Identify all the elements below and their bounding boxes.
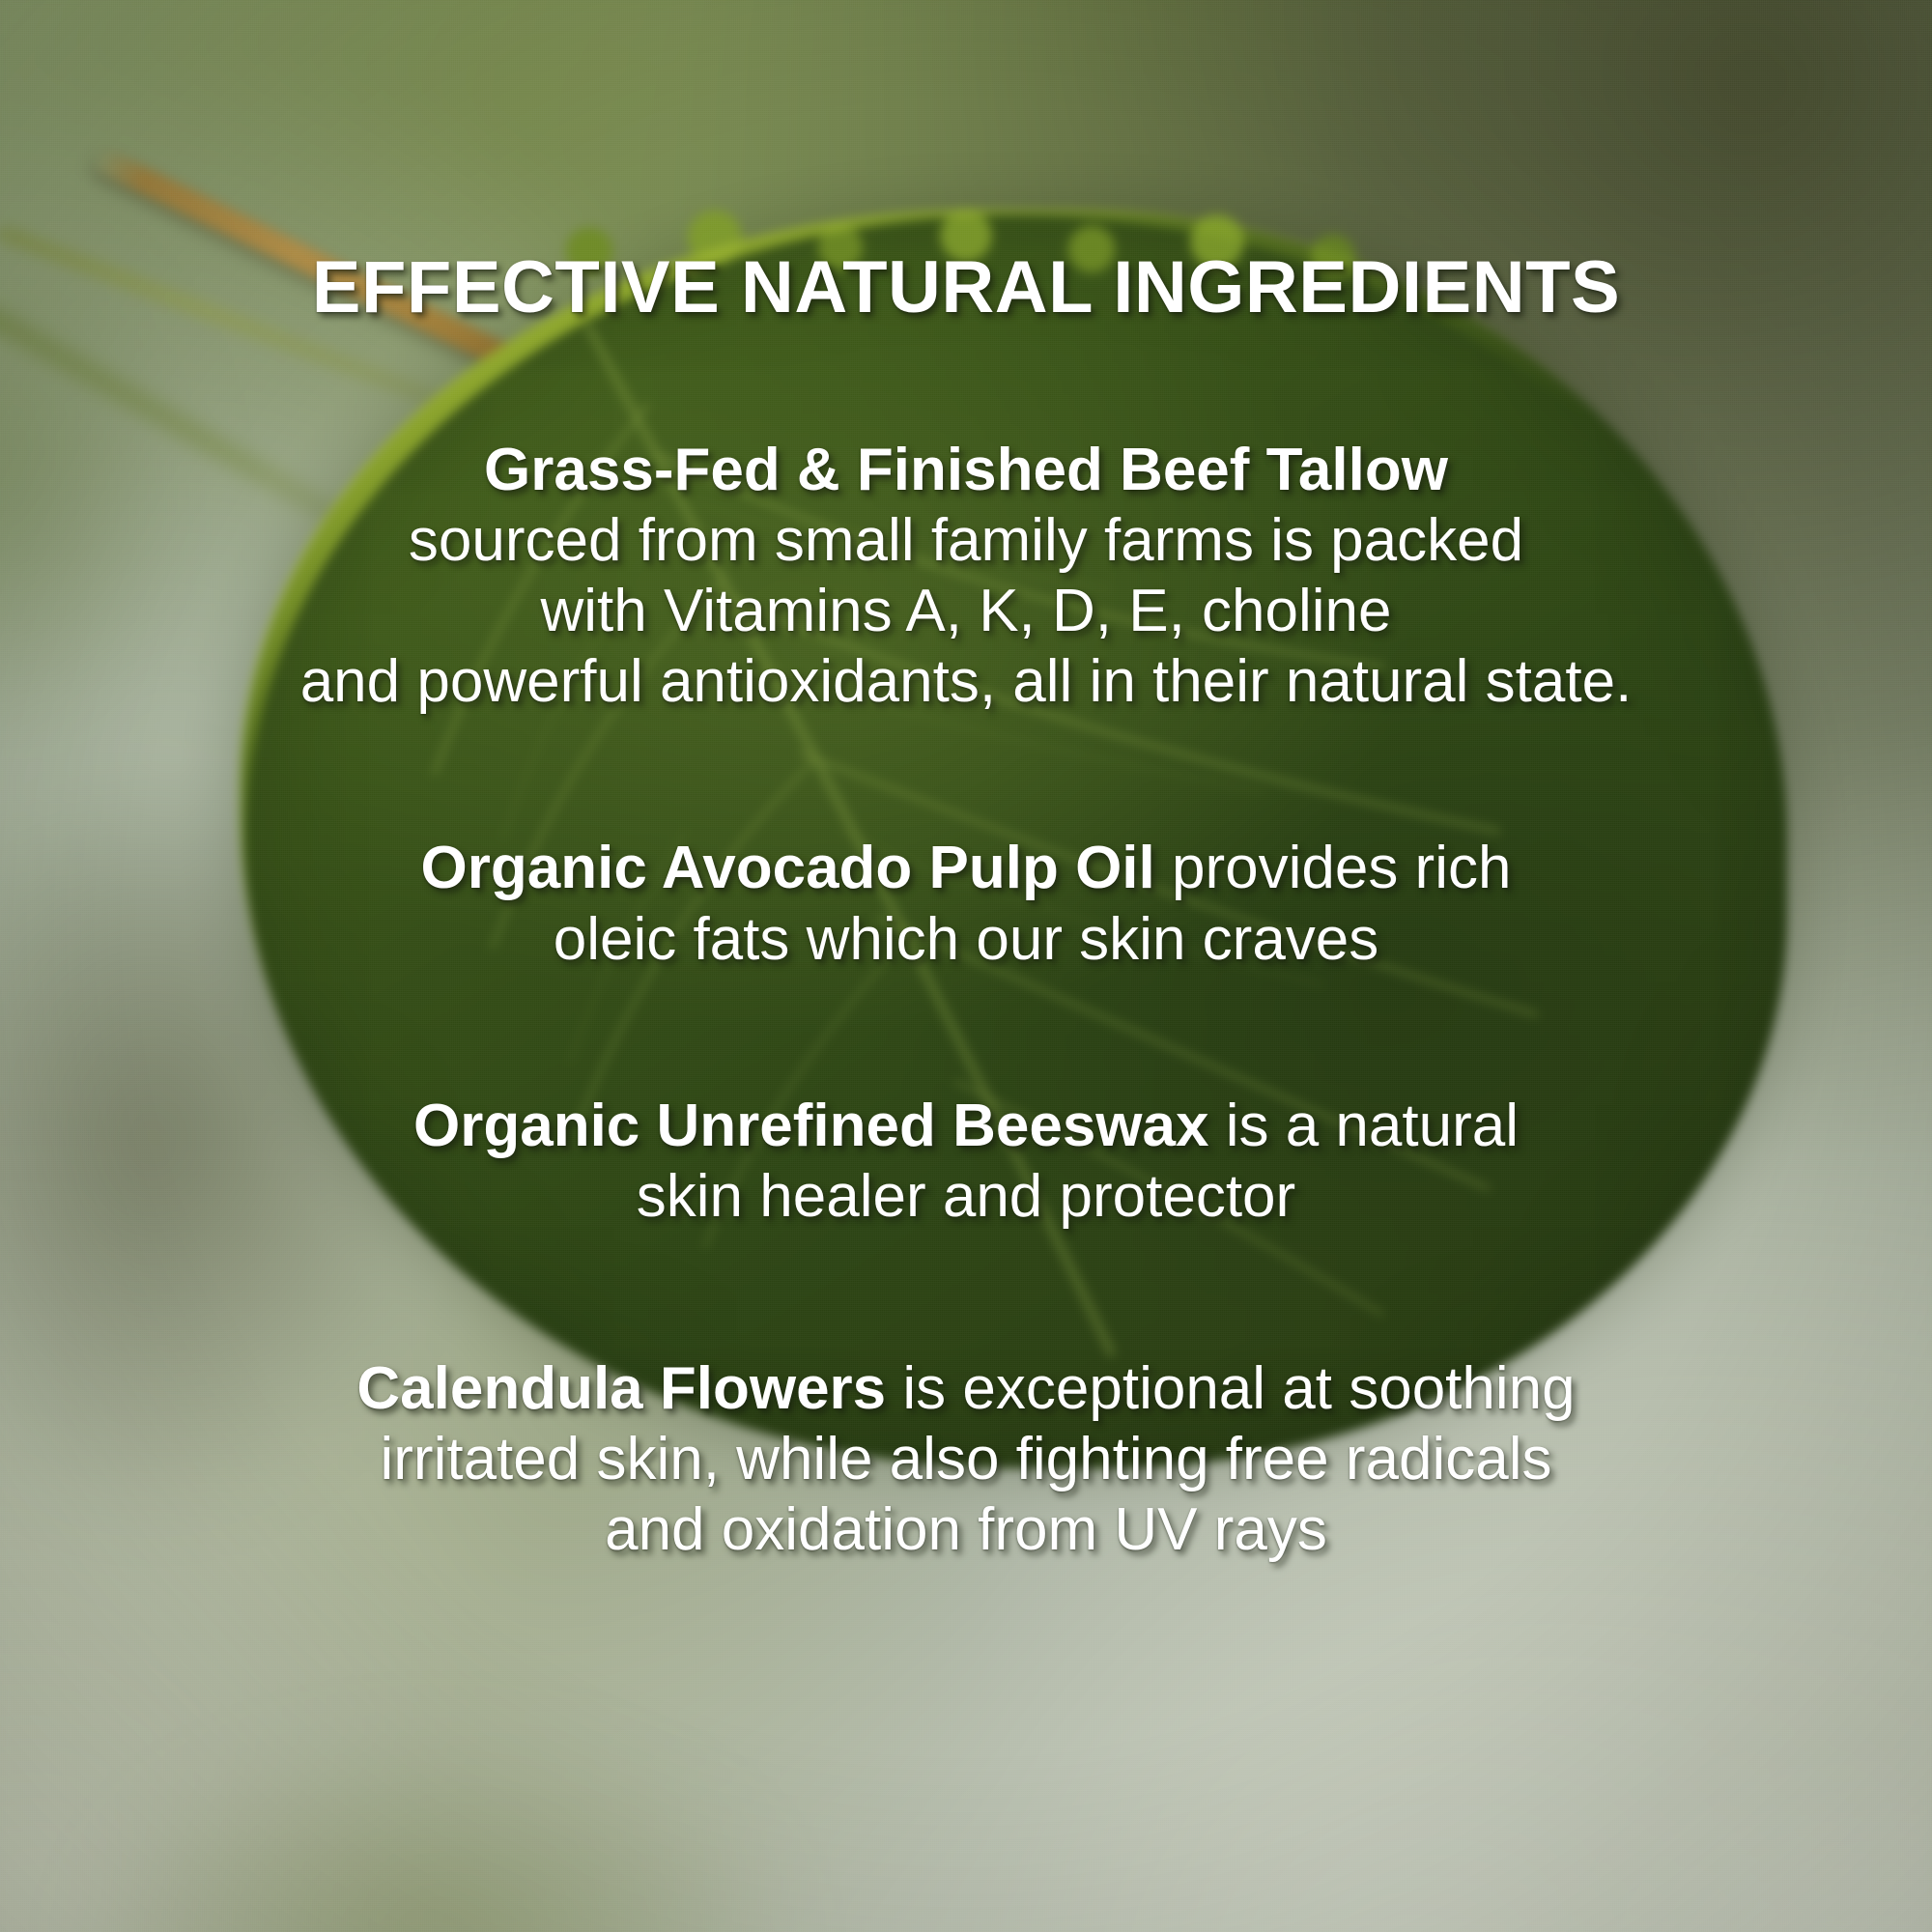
ingredient-line: with Vitamins A, K, D, E, choline	[300, 576, 1633, 646]
ingredient-line: sourced from small family farms is packe…	[300, 505, 1633, 576]
ingredient-block-calendula: Calendula Flowers is exceptional at soot…	[356, 1353, 1575, 1565]
ingredients-graphic: EFFECTIVE NATURAL INGREDIENTS Grass-Fed …	[0, 0, 1932, 1932]
content-column: EFFECTIVE NATURAL INGREDIENTS Grass-Fed …	[0, 0, 1932, 1932]
ingredient-trailing-text: is exceptional at soothing	[886, 1355, 1575, 1422]
page-title: EFFECTIVE NATURAL INGREDIENTS	[312, 249, 1620, 327]
ingredient-heading: Organic Unrefined Beeswax	[413, 1093, 1209, 1159]
ingredient-heading: Grass-Fed & Finished Beef Tallow	[300, 435, 1633, 505]
ingredient-block-avocado-oil: Organic Avocado Pulp Oil provides rich o…	[421, 833, 1512, 974]
ingredient-trailing-text: is a natural	[1208, 1093, 1519, 1159]
ingredient-block-beeswax: Organic Unrefined Beeswax is a natural s…	[413, 1091, 1519, 1232]
ingredient-line: and oxidation from UV rays	[356, 1494, 1575, 1565]
ingredient-line: skin healer and protector	[413, 1161, 1519, 1232]
ingredient-line: irritated skin, while also fighting free…	[356, 1424, 1575, 1494]
ingredient-block-beef-tallow: Grass-Fed & Finished Beef Tallow sourced…	[300, 435, 1633, 718]
ingredient-heading: Calendula Flowers	[356, 1355, 886, 1422]
ingredient-line: and powerful antioxidants, all in their …	[300, 646, 1633, 717]
ingredient-heading: Organic Avocado Pulp Oil	[421, 835, 1155, 901]
ingredient-trailing-text: provides rich	[1155, 835, 1512, 901]
ingredient-line: oleic fats which our skin craves	[421, 904, 1512, 975]
